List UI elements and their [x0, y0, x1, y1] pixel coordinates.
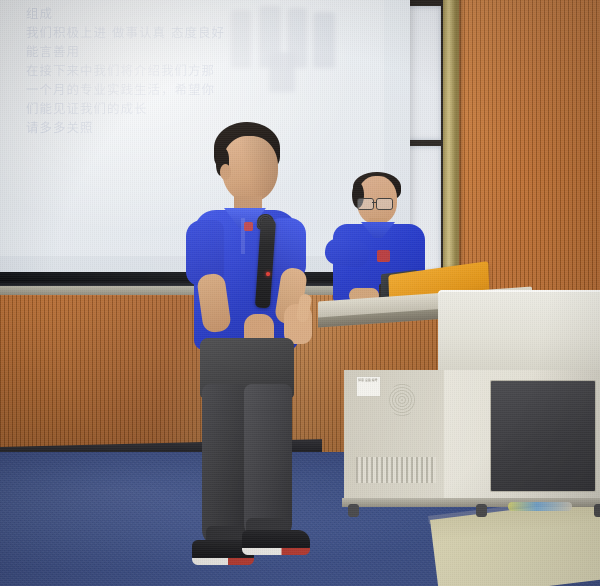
- presenter-shirt-logo: [244, 222, 253, 231]
- ventilation-slots: [356, 457, 436, 483]
- presenter-left-shoe-sole: [192, 558, 254, 565]
- microphone-led-icon: [266, 272, 270, 276]
- podium-front-face: 仰恩 大学: [438, 290, 600, 376]
- lecture-hall-photo: 组成 我们积极上进 做事认真 态度良好 能言善用 在接下来中我们将介绍我们方那 …: [0, 0, 600, 586]
- lectern-podium: 仰恩 大学 仰恩 设备 编号: [318, 284, 600, 516]
- presenter-ear: [220, 164, 231, 180]
- presenter-right-shoe-sole: [242, 548, 310, 555]
- presenter-left-leg: [202, 384, 246, 546]
- caster-wheel: [594, 504, 600, 517]
- standing-presenter: [186, 122, 356, 586]
- door-pane-upper: [405, 6, 441, 140]
- operator-shirt-logo: [377, 250, 390, 262]
- cable-bundle: [508, 502, 572, 511]
- equipment-label: 仰恩 设备 编号: [356, 376, 381, 397]
- presenter-right-leg: [244, 384, 292, 540]
- caster-wheel: [476, 504, 487, 517]
- eyeglasses-icon: [357, 198, 397, 208]
- speaker-grille-icon: [389, 383, 415, 417]
- podium-access-panel[interactable]: [490, 380, 596, 492]
